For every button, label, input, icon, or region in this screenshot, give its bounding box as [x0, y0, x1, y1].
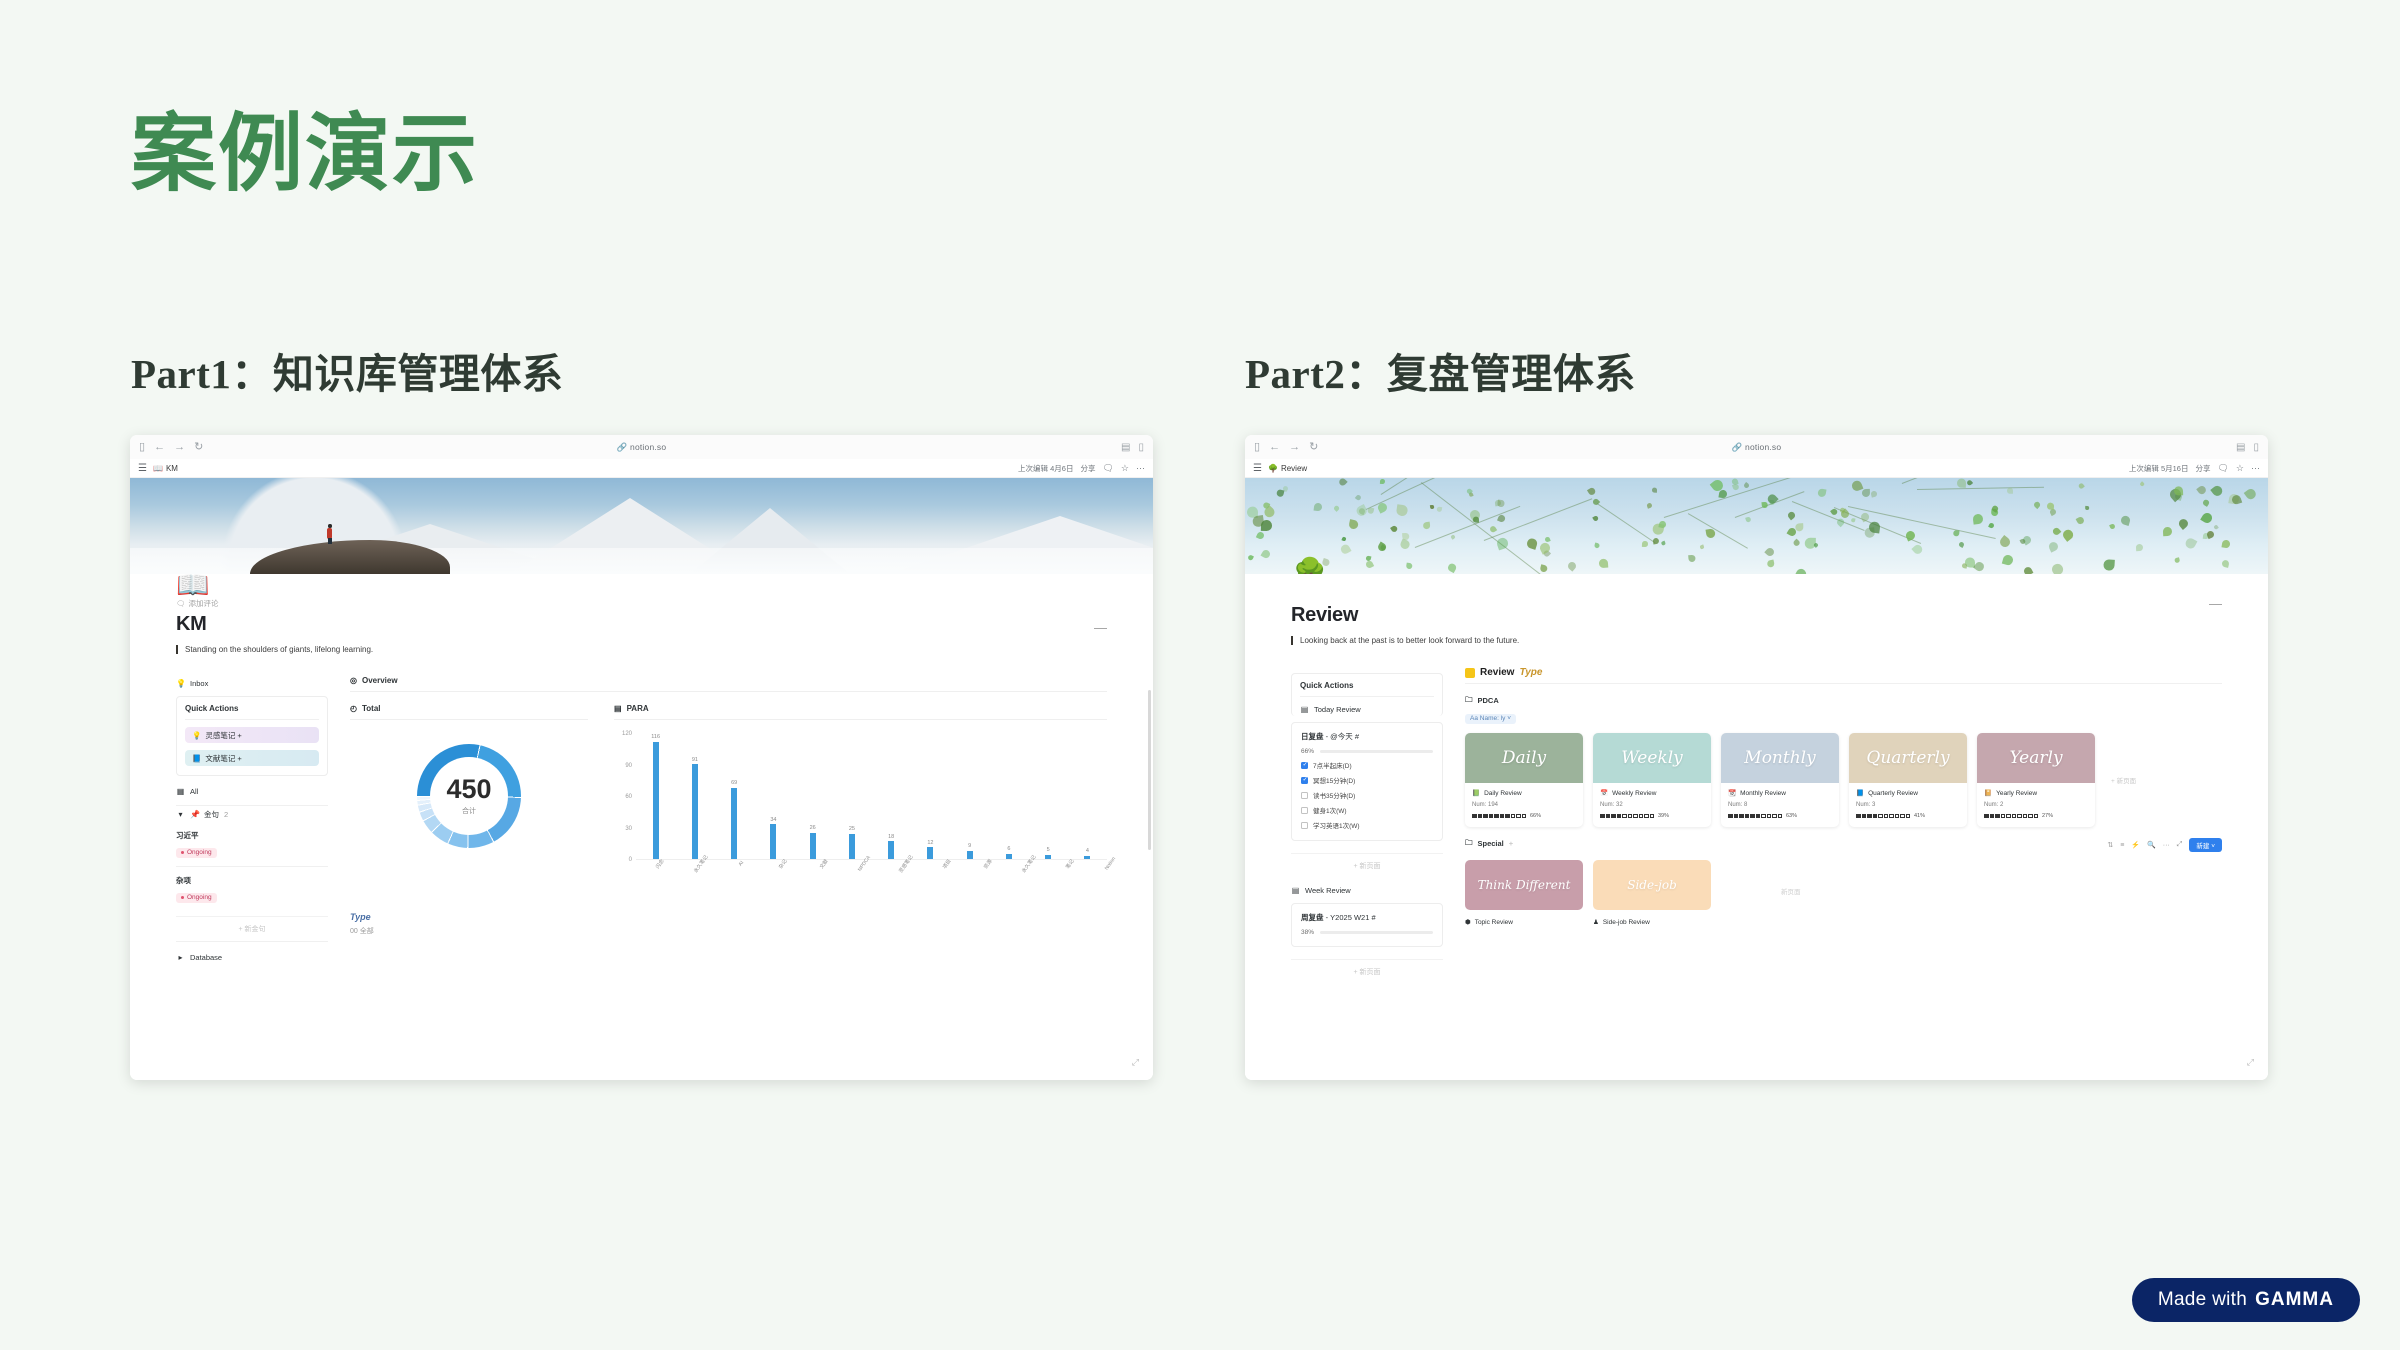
leaf-shape — [1498, 500, 1505, 507]
leaf-shape — [1956, 479, 1965, 488]
quick-actions-title: Quick Actions — [1300, 681, 1434, 697]
group-pdca[interactable]: 🗀 PDCA — [1465, 694, 2222, 707]
cover-image-mountains — [130, 478, 1153, 574]
leaf-shape — [1260, 549, 1271, 560]
card-icon: 📗 — [1472, 789, 1480, 797]
special-ghost-label: 新页面 — [1781, 886, 1801, 896]
bar-chart-icon: ▤ — [614, 704, 622, 713]
x-tick-label: 项目 — [941, 858, 952, 870]
book-icon: 📘 — [192, 754, 201, 763]
sidebar-item-database[interactable]: ▸ Database — [176, 950, 328, 964]
leaf-shape — [1642, 541, 1648, 547]
leaf-shape — [1762, 502, 1768, 508]
card-count: Num: 194 — [1472, 802, 1576, 808]
leaf-shape — [1261, 520, 1272, 531]
leaf-shape — [1365, 560, 1374, 569]
sidebar-item-label: Today Review — [1314, 705, 1361, 714]
bar — [810, 833, 816, 860]
star-icon[interactable]: ☆ — [1121, 463, 1129, 474]
checkbox[interactable] — [1301, 792, 1308, 799]
leaf-shape — [1313, 503, 1322, 512]
leaf-shape — [2196, 485, 2207, 496]
sidebar-item-label: Week Review — [1305, 886, 1351, 895]
leaf-shape — [2177, 517, 2190, 530]
chart-title-label: PARA — [627, 704, 649, 713]
progress-track — [1320, 750, 1433, 753]
progress-block — [1639, 814, 1644, 819]
back-arrow-icon[interactable]: ← — [154, 442, 165, 453]
checkbox[interactable] — [1301, 762, 1308, 769]
bar-value-label: 69 — [731, 780, 737, 786]
leaf-shape — [2221, 540, 2231, 550]
browser-chrome: ▯ ← → ↻ 🔗 notion.so ▤ ▯ — [1245, 435, 2268, 459]
chart-total-donut: ◴ Total 450 合计 — [350, 704, 588, 898]
breadcrumb-label: KM — [166, 464, 178, 473]
bar-column: 5 — [1029, 734, 1068, 860]
progress-block — [1489, 814, 1494, 819]
progress-block — [2028, 814, 2033, 819]
checklist-item[interactable]: 学习英语1次(W) — [1301, 820, 1433, 830]
checklist-label: 冥想15分钟(D) — [1313, 775, 1355, 785]
sidebar-item-label: Database — [190, 953, 222, 962]
quick-action-literature-note[interactable]: 📘 文献笔记 + — [185, 750, 319, 766]
leaf-shape — [1646, 502, 1653, 509]
leaf-shape — [1850, 479, 1863, 492]
bar-column: 26 — [793, 734, 832, 860]
leaf-shape — [1593, 542, 1600, 549]
review-card[interactable]: Quarterly📘Quarterly ReviewNum: 341% — [1849, 733, 1967, 827]
leaf-shape — [1539, 565, 1548, 574]
progress-block — [1606, 814, 1611, 819]
sidebar-icon[interactable]: ▯ — [1254, 442, 1260, 453]
card-thumbnail: Daily — [1465, 733, 1583, 783]
progress-block — [1511, 814, 1516, 819]
x-tick-label: 资源 — [982, 858, 993, 870]
menu-icon[interactable]: ☰ — [138, 463, 147, 474]
checklist-item[interactable]: 读书35分钟(D) — [1301, 790, 1433, 800]
folder-icon: 🗀 — [1465, 837, 1473, 850]
leaf-shape — [1814, 542, 1820, 548]
bar-value-label: 34 — [770, 817, 776, 823]
new-quote-button[interactable]: + 新金句 — [176, 916, 328, 934]
review-card[interactable]: Yearly📔Yearly ReviewNum: 227% — [1977, 733, 2095, 827]
special-card[interactable]: Think Different⬢Topic Review — [1465, 860, 1583, 926]
leaf-shape — [2202, 499, 2210, 507]
bar-column: 18 — [872, 734, 911, 860]
more-icon[interactable]: ··· — [1136, 463, 1145, 473]
leaf-shape — [1958, 541, 1965, 548]
x-label-column: 灵感笔记 — [882, 860, 923, 898]
chart-title-label: Total — [362, 704, 381, 713]
menu-icon[interactable]: ☰ — [1253, 463, 1262, 474]
card-icon: 📆 — [1728, 789, 1736, 797]
leaf-shape — [1447, 563, 1457, 573]
x-axis-labels: 闪念永久笔记AI杂记文献NPDCA灵感笔记项目资源永久笔记笔记Notion — [636, 860, 1129, 898]
progress-block — [1756, 814, 1761, 819]
add-icon[interactable]: + — [1509, 839, 1513, 848]
leaf-shape — [1793, 539, 1801, 547]
type-section-label: Type — [350, 912, 1107, 922]
made-with-gamma-badge[interactable]: Made with GAMMA — [2132, 1278, 2360, 1322]
sort-icon[interactable]: ≡ — [2120, 842, 2124, 849]
expand-icon[interactable]: ⤢ — [2177, 841, 2183, 849]
today-review-card[interactable]: 日复盘 - @今天 # 66% 7点半起床(D)冥想15分钟(D)读书35分钟(… — [1291, 722, 1443, 841]
leaf-shape — [2047, 503, 2054, 510]
card-name: Weekly Review — [1612, 790, 1656, 797]
y-tick-label: 60 — [625, 794, 632, 800]
card-thumbnail: Quarterly — [1849, 733, 1967, 783]
y-tick-label: 90 — [625, 763, 632, 769]
bar-value-label: 12 — [927, 840, 933, 846]
bar-column: 116 — [636, 734, 675, 860]
progress-block — [1761, 814, 1766, 819]
leaf-shape — [1652, 538, 1660, 546]
leaf-shape — [1870, 490, 1877, 497]
name-filter-pill[interactable]: Aa Name: ly ˅ — [1465, 714, 1516, 724]
page-title: 案例演示 — [131, 112, 479, 197]
progress-block — [1628, 814, 1633, 819]
bar-value-label: 25 — [849, 826, 855, 832]
bar-series: 116916934262518129654 — [636, 734, 1107, 860]
expand-icon[interactable]: ⤢ — [2247, 1057, 2254, 1068]
progress-block — [1734, 814, 1739, 819]
chart-title-total: ◴ Total — [350, 704, 588, 713]
sidebar-item-week-review[interactable]: ▤ Week Review — [1291, 883, 1443, 897]
leaf-shape — [2185, 538, 2198, 551]
checklist-item[interactable]: 冥想15分钟(D) — [1301, 775, 1433, 785]
leaf-shape — [2002, 554, 2014, 566]
y-axis: 0306090120 — [614, 734, 634, 860]
book-icon: 📖 — [153, 464, 163, 473]
leaf-shape — [1256, 530, 1265, 539]
x-label-column: 永久笔记 — [1006, 860, 1047, 898]
collapse-icon[interactable]: — — [2209, 596, 2222, 611]
leaf-shape — [1764, 547, 1775, 558]
sidebar-item-inbox[interactable]: 💡 Inbox — [176, 676, 328, 690]
expand-icon[interactable]: ⤢ — [1132, 1057, 1139, 1068]
database-icon: ▤ — [1300, 705, 1309, 714]
leaf-shape — [1368, 507, 1375, 514]
card-icon: ♟ — [1593, 918, 1599, 926]
search-icon[interactable]: 🔍 — [2147, 841, 2156, 849]
progress-block — [1990, 814, 1995, 819]
filter-icon[interactable]: ⇅ — [2107, 841, 2113, 849]
leaf-shape — [1998, 535, 2012, 549]
reader-icon[interactable]: ▤ — [1121, 442, 1130, 453]
x-tick-label: 闪念 — [654, 858, 665, 870]
leaf-shape — [1587, 486, 1597, 496]
add-comment-button[interactable]: 🗨 添加评论 — [176, 598, 1107, 609]
tab-overview[interactable]: ◎ Overview — [350, 676, 1107, 685]
quick-action-inspiration-note[interactable]: 💡 灵感笔记 + — [185, 727, 319, 743]
card-percent: 41% — [1914, 813, 1925, 819]
reader-icon[interactable]: ▤ — [2236, 442, 2245, 453]
leaf-shape — [1598, 559, 1607, 568]
tabs-icon[interactable]: ▯ — [1138, 442, 1144, 453]
review-type-word: Type — [1519, 667, 1542, 678]
review-card[interactable]: Daily📗Daily ReviewNum: 19466% — [1465, 733, 1583, 827]
progress-block — [1895, 814, 1900, 819]
divider — [350, 719, 588, 720]
database-icon: ▤ — [1291, 886, 1300, 895]
card-percent: 66% — [1530, 813, 1541, 819]
bar-value-label: 26 — [810, 825, 816, 831]
leaf-shape — [2136, 544, 2144, 552]
progress-block — [1906, 814, 1911, 819]
share-button[interactable]: 分享 — [1080, 463, 1095, 474]
leaf-shape — [1405, 562, 1412, 569]
week-review-card[interactable]: 周复盘 - Y2025 W21 # 38% — [1291, 903, 1443, 947]
card-thumbnail: Weekly — [1593, 733, 1711, 783]
review-card[interactable]: Weekly📅Weekly ReviewNum: 3239% — [1593, 733, 1711, 827]
progress-block — [1750, 814, 1755, 819]
leaf-shape — [1247, 555, 1254, 562]
leaf-shape — [2033, 500, 2041, 508]
progress-block — [1745, 814, 1750, 819]
address-bar[interactable]: 🔗 notion.so — [1692, 442, 1822, 453]
bar — [653, 742, 659, 861]
comment-icon[interactable]: 🗨 — [2217, 463, 2228, 474]
card-count: Num: 32 — [1600, 802, 1704, 808]
card-meta-text: - Y2025 W21 # — [1326, 913, 1376, 922]
bar-value-label: 5 — [1047, 847, 1050, 853]
leaf-shape — [1953, 529, 1960, 536]
card-icon: 📔 — [1984, 789, 1992, 797]
pin-icon: 📌 — [190, 810, 199, 819]
leaf-shape — [2051, 527, 2061, 537]
notion-page-title: KM — [176, 613, 1107, 636]
comment-icon[interactable]: 🗨 — [1102, 463, 1113, 474]
status-label: Ongoing — [187, 894, 212, 901]
progress-blocks — [1600, 814, 1654, 819]
card-icon: 📘 — [1856, 789, 1864, 797]
forward-arrow-icon[interactable]: → — [1289, 442, 1300, 453]
sidebar-group-quotes[interactable]: ▾ 📌 金句 2 — [176, 806, 328, 822]
progress-block — [1472, 814, 1477, 819]
progress-block — [1478, 814, 1483, 819]
group-label: Special — [1478, 839, 1504, 848]
bar-value-label: 6 — [1007, 846, 1010, 852]
url-text: notion.so — [630, 442, 666, 452]
progress-blocks — [1728, 814, 1782, 819]
bar-column: 9 — [950, 734, 989, 860]
leaf-shape — [1365, 555, 1371, 561]
url-text: notion.so — [1745, 442, 1781, 452]
notion-page-review: Review Looking back at the past is to be… — [1245, 574, 2268, 1080]
page-scrollbar[interactable] — [1148, 690, 1151, 850]
bar-column: 12 — [911, 734, 950, 860]
x-label-column: 资源 — [965, 860, 1006, 898]
new-page-button-week[interactable]: + 新页面 — [1291, 959, 1443, 977]
divider — [614, 719, 1107, 720]
reload-icon[interactable]: ↻ — [1309, 442, 1318, 453]
review-card-list: Daily📗Daily ReviewNum: 19466%Weekly📅Week… — [1465, 733, 2222, 827]
sidebar-item-today-review[interactable]: ▤ Today Review — [1300, 702, 1434, 716]
card-percent: 63% — [1786, 813, 1797, 819]
new-page-button[interactable]: + 新页面 — [1291, 853, 1443, 871]
checklist[interactable]: 7点半起床(D)冥想15分钟(D)读书35分钟(D)健身1次(W)学习英语1次(… — [1301, 760, 1433, 830]
quick-action-label: 灵感笔记 + — [205, 730, 241, 741]
x-label-column: Notion — [1088, 860, 1129, 898]
leaf-shape — [1688, 555, 1696, 563]
progress-block — [1617, 814, 1622, 819]
new-record-button[interactable]: 新建 ˅ — [2189, 838, 2222, 852]
notion-page-km: 📖 🗨 添加评论 KM Standing on the shoulders of… — [130, 574, 1153, 1080]
bar-column: 91 — [675, 734, 714, 860]
leaf-shape — [1429, 505, 1434, 510]
more-icon[interactable]: ··· — [2163, 842, 2170, 849]
leaf-shape — [1817, 489, 1826, 498]
browser-window-km: ▯ ← → ↻ 🔗 notion.so ▤ ▯ ☰ 📖 KM 上次编辑 4月6日 — [130, 435, 1153, 1080]
leaf-shape — [1355, 504, 1368, 517]
progress-block — [2001, 814, 2006, 819]
progress-block — [1867, 814, 1872, 819]
divider — [176, 941, 328, 942]
chevron-down-icon[interactable]: ▾ — [176, 810, 185, 819]
progress-block — [1622, 814, 1627, 819]
section-heading-part2: Part2：复盘管理体系 — [1245, 340, 1636, 400]
progress-block — [1633, 814, 1638, 819]
progress-block — [1644, 814, 1649, 819]
leaf-shape — [1743, 482, 1750, 489]
folder-icon: 🗀 — [1465, 694, 1473, 707]
tabs-icon[interactable]: ▯ — [2253, 442, 2259, 453]
progress-blocks — [1856, 814, 1910, 819]
leaf-shape — [1787, 510, 1797, 520]
special-card[interactable]: Side-job♟Side-job Review — [1593, 860, 1711, 926]
branch-shape — [1664, 478, 1798, 518]
card-percent: 39% — [1658, 813, 1669, 819]
group-count: 2 — [224, 810, 228, 819]
progress-block — [2006, 814, 2011, 819]
forward-arrow-icon[interactable]: → — [174, 442, 185, 453]
progress-block — [1522, 814, 1527, 819]
x-label-column: 项目 — [924, 860, 965, 898]
lightning-icon[interactable]: ⚡ — [2131, 841, 2140, 849]
page-emoji-icon[interactable]: 📖 — [176, 574, 210, 602]
checklist-item[interactable]: 7点半起床(D) — [1301, 760, 1433, 770]
gamma-prefix: Made with — [2158, 1289, 2247, 1311]
review-main-content: Review Type 🗀 PDCA Aa Name: ly ˅ Daily📗D… — [1465, 667, 2222, 977]
leaf-shape — [1402, 533, 1410, 541]
y-tick-label: 120 — [622, 731, 632, 737]
progress-blocks — [1984, 814, 2038, 819]
progress-block — [1900, 814, 1905, 819]
leaf-shape — [1348, 519, 1359, 530]
sidebar-item-all[interactable]: ▦ All — [176, 784, 328, 798]
donut-total-label: 合计 — [462, 806, 476, 816]
leaf-shape — [1399, 539, 1410, 550]
progress-block — [1739, 814, 1744, 819]
divider — [1465, 683, 2222, 684]
card-thumbnail: Yearly — [1977, 733, 2095, 783]
notion-page-title: Review — [1291, 604, 2222, 627]
leaf-shape — [1746, 516, 1752, 522]
card-name: Topic Review — [1475, 919, 1513, 926]
bulb-icon: 💡 — [176, 679, 185, 688]
chevron-right-icon[interactable]: ▸ — [176, 953, 185, 962]
card-name: Side-job Review — [1603, 919, 1650, 926]
leaf-shape — [1450, 534, 1456, 540]
progress-block — [1650, 814, 1655, 819]
progress-block — [1483, 814, 1488, 819]
leaf-shape — [1699, 544, 1704, 549]
bar-column: 25 — [832, 734, 871, 860]
list-item-name[interactable]: 习近平 — [176, 830, 328, 841]
x-label-column: 杂记 — [759, 860, 800, 898]
cover-image-leaves: 🌳 — [1245, 478, 2268, 574]
leaf-shape — [2047, 540, 2059, 552]
progress-block — [2034, 814, 2039, 819]
bar-column: 69 — [715, 734, 754, 860]
card-name: Yearly Review — [1996, 790, 2037, 797]
progress-block — [1728, 814, 1733, 819]
card-count: Num: 2 — [1984, 802, 2088, 808]
leaf-shape — [1355, 494, 1361, 500]
week-card-title: 周复盘 - Y2025 W21 # — [1301, 912, 1433, 923]
progress-block — [1862, 814, 1867, 819]
leaf-shape — [2175, 558, 2181, 564]
breadcrumb[interactable]: 🌳 Review — [1268, 464, 1307, 473]
bar — [770, 824, 776, 860]
leaf-canvas — [1245, 478, 2268, 574]
type-section-sub: 00 全部 — [350, 926, 1107, 936]
page-emoji-icon[interactable]: 🌳 — [1293, 555, 1327, 574]
back-arrow-icon[interactable]: ← — [1269, 442, 1280, 453]
card-percent: 27% — [2042, 813, 2053, 819]
sidebar-item-label: All — [190, 787, 198, 796]
checkbox[interactable] — [1301, 822, 1308, 829]
leaf-shape — [1390, 525, 1399, 534]
checklist-item[interactable]: 健身1次(W) — [1301, 805, 1433, 815]
more-icon[interactable]: ··· — [2251, 463, 2260, 473]
last-edited-label: 上次编辑 5月16日 — [2129, 463, 2189, 474]
leaf-shape — [1661, 540, 1667, 546]
progress-block — [1772, 814, 1777, 819]
bar-column: 34 — [754, 734, 793, 860]
review-card[interactable]: Monthly📆Monthly ReviewNum: 863% — [1721, 733, 1839, 827]
share-button[interactable]: 分享 — [2195, 463, 2210, 474]
card-thumbnail: Monthly — [1721, 733, 1839, 783]
checkbox[interactable] — [1301, 807, 1308, 814]
special-card-list: Think Different⬢Topic ReviewSide-job♟Sid… — [1465, 860, 2222, 926]
address-bar[interactable]: 🔗 notion.so — [577, 442, 707, 453]
leaf-shape — [1423, 521, 1431, 529]
leaf-shape — [1851, 518, 1856, 523]
progress-block — [1767, 814, 1772, 819]
notion-topbar: ☰ 🌳 Review 上次编辑 5月16日 分享 🗨 ☆ ··· — [1245, 459, 2268, 478]
x-tick-label: 笔记 — [1064, 858, 1075, 870]
leaf-shape — [1277, 489, 1285, 497]
reload-icon[interactable]: ↻ — [194, 442, 203, 453]
sidebar-icon[interactable]: ▯ — [139, 442, 145, 453]
list-item-name[interactable]: 杂项 — [176, 875, 328, 886]
breadcrumb[interactable]: 📖 KM — [153, 464, 178, 473]
browser-window-review: ▯ ← → ↻ 🔗 notion.so ▤ ▯ ☰ 🌳 Review 上次编辑 … — [1245, 435, 2268, 1080]
x-label-column: 笔记 — [1047, 860, 1088, 898]
today-card-title: 日复盘 - @今天 # — [1301, 731, 1433, 742]
add-card-button[interactable]: + 新页面 — [2111, 775, 2136, 785]
star-icon[interactable]: ☆ — [2236, 463, 2244, 474]
collapse-icon[interactable]: — — [1094, 620, 1107, 635]
section-heading-part1: Part1：知识库管理体系 — [131, 340, 563, 400]
y-tick-label: 30 — [625, 826, 632, 832]
checkbox[interactable] — [1301, 777, 1308, 784]
leaf-shape — [2084, 506, 2088, 510]
leaf-shape — [1766, 559, 1775, 568]
bar-value-label: 4 — [1086, 848, 1089, 854]
review-type-name: Review — [1480, 667, 1514, 678]
